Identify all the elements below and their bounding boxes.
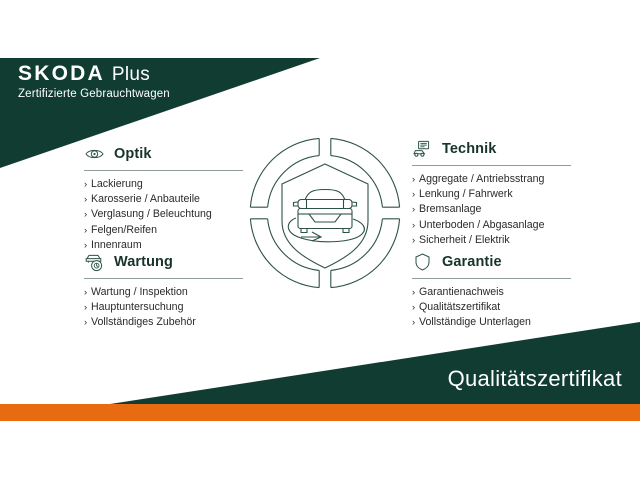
brand-plus-label: Plus (112, 65, 150, 84)
list-item-label: Karosserie / Anbauteile (91, 192, 200, 207)
list-item-label: Bremsanlage (419, 202, 481, 217)
list-item: ›Felgen/Reifen (84, 223, 259, 238)
list-item-label: Hauptuntersuchung (91, 300, 183, 315)
list-item: ›Qualitätszertifikat (412, 300, 587, 315)
list-item-label: Garantienachweis (419, 285, 504, 300)
list-item-label: Lenkung / Fahrwerk (419, 187, 513, 202)
section-wartung-list: ›Wartung / Inspektion ›Hauptuntersuchung… (84, 285, 259, 331)
list-item-label: Verglasung / Beleuchtung (91, 207, 212, 222)
brand-lockup: SKODA Plus Zertifizierte Gebrauchtwagen (18, 63, 170, 101)
section-garantie-divider (412, 278, 571, 279)
brand-subtitle: Zertifizierte Gebrauchtwagen (18, 89, 170, 101)
list-item: ›Garantienachweis (412, 285, 587, 300)
list-item-label: Vollständige Unterlagen (419, 315, 531, 330)
footer-title: Qualitätszertifikat (448, 366, 622, 392)
list-item-label: Wartung / Inspektion (91, 285, 188, 300)
section-optik-header: Optik (84, 143, 259, 165)
list-item: ›Unterboden / Abgasanlage (412, 218, 587, 233)
list-item: ›Vollständiges Zubehör (84, 315, 259, 330)
chevron-right-icon: › (412, 315, 419, 330)
certified-vehicle-emblem (249, 137, 401, 289)
section-garantie-list: ›Garantienachweis ›Qualitätszertifikat ›… (412, 285, 587, 331)
car-service-icon (84, 252, 105, 272)
chevron-right-icon: › (412, 300, 419, 315)
section-optik-list: ›Lackierung ›Karosserie / Anbauteile ›Ve… (84, 177, 259, 253)
chevron-right-icon: › (412, 172, 419, 187)
chevron-right-icon: › (84, 223, 91, 238)
list-item-label: Qualitätszertifikat (419, 300, 500, 315)
chevron-right-icon: › (84, 285, 91, 300)
section-technik-header: Technik (412, 138, 587, 160)
list-item: ›Hauptuntersuchung (84, 300, 259, 315)
brand-skoda-wordmark: SKODA (18, 63, 105, 84)
section-garantie-title: Garantie (442, 254, 502, 270)
list-item: ›Aggregate / Antriebsstrang (412, 172, 587, 187)
list-item-label: Unterboden / Abgasanlage (419, 218, 544, 233)
chevron-right-icon: › (84, 207, 91, 222)
orange-accent-bar (0, 404, 640, 421)
list-item: ›Vollständige Unterlagen (412, 315, 587, 330)
section-optik: Optik ›Lackierung ›Karosserie / Anbautei… (84, 143, 259, 253)
section-technik-list: ›Aggregate / Antriebsstrang ›Lenkung / F… (412, 172, 587, 248)
list-item-label: Lackierung (91, 177, 143, 192)
chevron-right-icon: › (84, 192, 91, 207)
chevron-right-icon: › (412, 187, 419, 202)
chevron-right-icon: › (84, 300, 91, 315)
section-wartung-divider (84, 278, 243, 279)
list-item-label: Sicherheit / Elektrik (419, 233, 510, 248)
chevron-right-icon: › (412, 218, 419, 233)
section-wartung: Wartung ›Wartung / Inspektion ›Hauptunte… (84, 251, 259, 331)
list-item: ›Sicherheit / Elektrik (412, 233, 587, 248)
section-wartung-title: Wartung (114, 254, 173, 270)
brand-name-row: SKODA Plus (18, 63, 170, 84)
list-item-label: Vollständiges Zubehör (91, 315, 196, 330)
chevron-right-icon: › (84, 315, 91, 330)
list-item-label: Aggregate / Antriebsstrang (419, 172, 544, 187)
chevron-right-icon: › (412, 285, 419, 300)
list-item: ›Bremsanlage (412, 202, 587, 217)
section-optik-divider (84, 170, 243, 171)
shield-icon (412, 252, 433, 272)
chevron-right-icon: › (412, 233, 419, 248)
chevron-right-icon: › (84, 177, 91, 192)
list-item: ›Verglasung / Beleuchtung (84, 207, 259, 222)
section-optik-title: Optik (114, 146, 152, 162)
chevron-right-icon: › (412, 202, 419, 217)
section-wartung-header: Wartung (84, 251, 259, 273)
list-item: ›Lackierung (84, 177, 259, 192)
list-item-label: Felgen/Reifen (91, 223, 157, 238)
list-item: ›Wartung / Inspektion (84, 285, 259, 300)
section-technik-title: Technik (442, 141, 496, 157)
section-garantie-header: Garantie (412, 251, 587, 273)
list-item: ›Karosserie / Anbauteile (84, 192, 259, 207)
list-item: ›Lenkung / Fahrwerk (412, 187, 587, 202)
car-engine-icon (412, 139, 433, 159)
section-technik-divider (412, 165, 571, 166)
quality-certificate-page: SKODA Plus Zertifizierte Gebrauchtwagen … (0, 0, 640, 480)
section-garantie: Garantie ›Garantienachweis ›Qualitätszer… (412, 251, 587, 331)
eye-icon (84, 144, 105, 164)
section-technik: Technik ›Aggregate / Antriebsstrang ›Len… (412, 138, 587, 248)
